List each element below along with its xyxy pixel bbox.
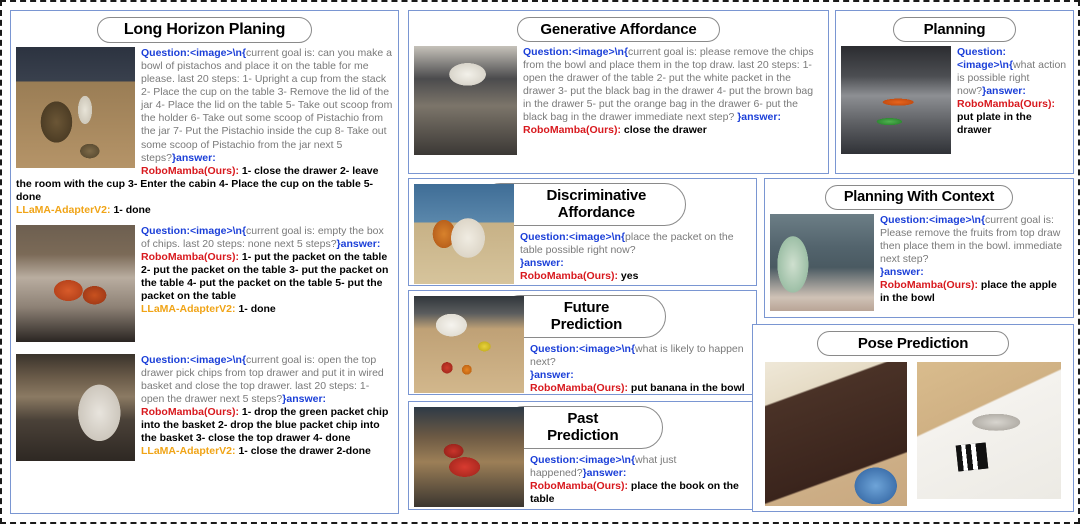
robomamba-label: RoboMamba(Ours): — [141, 165, 239, 177]
panel-discriminative-affordance: Discriminative Affordance Question:<imag… — [408, 178, 757, 286]
figure-root: Long Horizon Planing Question:<image>\n{… — [0, 0, 1080, 524]
question-label: Question:<image>\n{ — [523, 46, 628, 58]
llama-adapter-answer: 1- close the drawer 2-done — [238, 445, 370, 457]
pose-photo-pair — [758, 360, 1068, 506]
question-label: Question:<image>\n{ — [530, 343, 635, 355]
answer-brace: }answer: — [737, 111, 781, 123]
stapler-marker-photo — [917, 362, 1061, 499]
robomamba-label: RoboMamba(Ours): — [530, 382, 628, 394]
qa-item: Question:<image>\n{current goal is: plea… — [414, 46, 823, 157]
robomamba-answer: close the drawer — [624, 124, 707, 136]
panel-pose-prediction: Pose Prediction — [752, 324, 1074, 512]
bowl-drawer-photo — [414, 46, 517, 155]
fruit-bowl-photo — [414, 296, 524, 393]
aruco-marker-icon — [956, 443, 989, 472]
answer-brace: }answer: — [282, 393, 326, 405]
question-label: Question:<image>\n{ — [141, 354, 246, 366]
panel-title-future-prediction: Future Prediction — [499, 295, 666, 338]
panel-title-long-horizon-planning: Long Horizon Planing — [97, 17, 312, 43]
llama-adapter-answer: 1- done — [238, 303, 275, 315]
llama-adapter-label: LLaMA-AdapterV2: — [16, 204, 111, 216]
answer-brace: }answer: — [172, 152, 216, 164]
answer-brace: }answer: — [880, 266, 924, 278]
cabinet-stitch-photo — [765, 362, 907, 506]
answer-brace: }answer: — [520, 257, 564, 269]
robomamba-label: RoboMamba(Ours): — [530, 480, 628, 492]
panel-planning-with-context: Planning With Context Question:<image>\n… — [764, 178, 1074, 318]
question-label: Question:<image>\n{ — [880, 214, 985, 226]
qa-item: Future Prediction Question:<image>\n{wha… — [414, 295, 751, 395]
answer-brace: }answer: — [583, 467, 627, 479]
robomamba-label: RoboMamba(Ours): — [523, 124, 621, 136]
robot-arm-drawer-photo — [16, 354, 135, 461]
qa-item: Past Prediction Question:<image>\n{what … — [414, 406, 751, 509]
robomamba-answer: put banana in the bowl — [631, 382, 745, 394]
panel-title-planning-with-context: Planning With Context — [825, 185, 1013, 210]
panel-future-prediction: Future Prediction Question:<image>\n{wha… — [408, 290, 757, 395]
red-book-table-photo — [414, 407, 524, 507]
chips-box-photo — [16, 225, 135, 342]
question-label: Question:<image>\n{ — [530, 454, 635, 466]
panel-past-prediction: Past Prediction Question:<image>\n{what … — [408, 401, 757, 510]
panel-long-horizon-planning: Long Horizon Planing Question:<image>\n{… — [10, 10, 399, 514]
qa-item: Question:<image>\n{current goal is: open… — [16, 354, 393, 463]
panel-title-planning: Planning — [893, 17, 1017, 42]
tool-drawer-photo — [841, 46, 951, 154]
question-label: Question:<image>\n{ — [520, 231, 625, 243]
robomamba-label: RoboMamba(Ours): — [880, 279, 978, 291]
robomamba-label: RoboMamba(Ours): — [141, 406, 239, 418]
panel-title-generative-affordance: Generative Affordance — [517, 17, 719, 42]
robomamba-label: RoboMamba(Ours): — [141, 251, 239, 263]
qa-item: Question:<image>\n{current goal is: empt… — [16, 225, 393, 344]
panel-title-past-prediction: Past Prediction — [502, 406, 662, 449]
panel-planning: Planning Question:<image>\n{what action … — [835, 10, 1074, 174]
robomamba-answer: put plate in the drawer — [957, 111, 1032, 136]
answer-brace: }answer: — [337, 238, 381, 250]
llama-adapter-label: LLaMA-AdapterV2: — [141, 445, 236, 457]
hallway-photo — [770, 214, 874, 311]
question-label: Question:<image>\n{ — [141, 47, 246, 59]
question-label: Question:<image>\n{ — [957, 46, 1013, 71]
answer-brace: }answer: — [982, 85, 1026, 97]
robomamba-label: RoboMamba(Ours): — [520, 270, 618, 282]
question-text: current goal is: can you make a bowl of … — [141, 47, 392, 163]
popcorn-packet-photo — [414, 184, 514, 284]
qa-item: Question:<image>\n{current goal is: Plea… — [770, 214, 1068, 313]
qa-item: Discriminative Affordance Question:<imag… — [414, 183, 751, 286]
llama-adapter-answer: 1- done — [113, 204, 150, 216]
panel-generative-affordance: Generative Affordance Question:<image>\n… — [408, 10, 829, 174]
panel-title-pose-prediction: Pose Prediction — [817, 331, 1009, 356]
robomamba-label: RoboMamba(Ours): — [957, 98, 1055, 110]
question-label: Question:<image>\n{ — [141, 225, 246, 237]
answer-brace: }answer: — [530, 369, 574, 381]
robomamba-answer: yes — [621, 270, 639, 282]
llama-adapter-label: LLaMA-AdapterV2: — [141, 303, 236, 315]
qa-item: Question:<image>\n{what action is possib… — [841, 46, 1068, 156]
pistachio-jar-photo — [16, 47, 135, 168]
qa-item: Question:<image>\n{current goal is: can … — [16, 47, 393, 216]
